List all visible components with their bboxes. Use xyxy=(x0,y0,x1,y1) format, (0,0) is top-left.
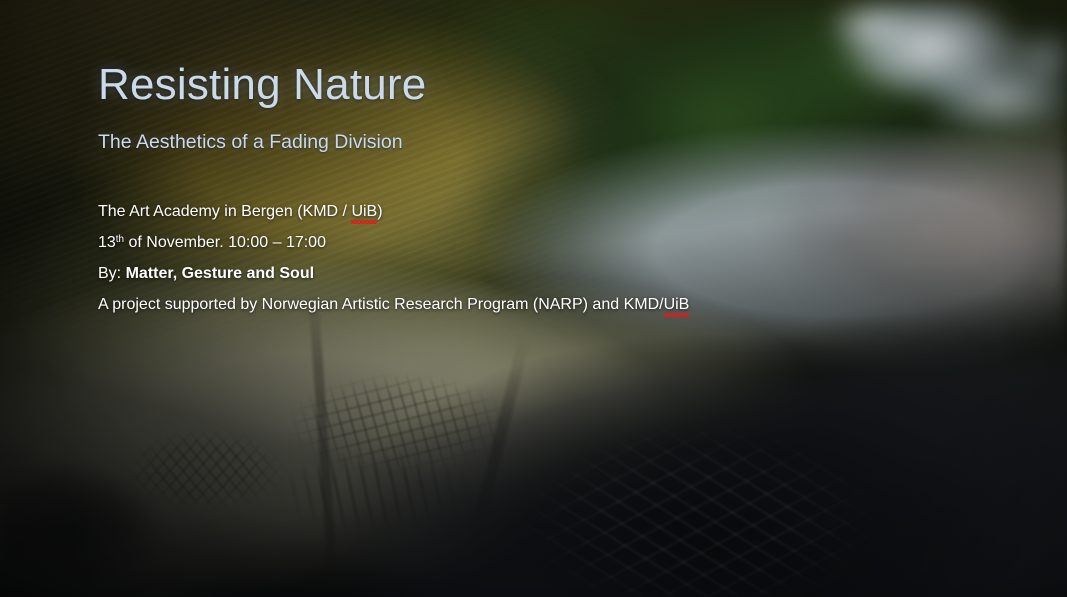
slide-text-block: Resisting Nature The Aesthetics of a Fad… xyxy=(98,62,798,313)
text-run: A project supported by Norwegian Artisti… xyxy=(98,296,664,313)
text-run: of November. 10:00 – 17:00 xyxy=(124,234,326,251)
emphasised-text: Matter, Gesture and Soul xyxy=(126,265,314,282)
spellcheck-flagged-word: UiB xyxy=(351,203,377,220)
text-run: The Art Academy in Bergen (KMD / xyxy=(98,203,351,220)
text-run: ) xyxy=(377,203,382,220)
text-run: 13 xyxy=(98,234,116,251)
slide-subtitle: The Aesthetics of a Fading Division xyxy=(98,131,798,154)
presentation-slide: Resisting Nature The Aesthetics of a Fad… xyxy=(0,0,1067,597)
slide-detail-list: The Art Academy in Bergen (KMD / UiB)13t… xyxy=(98,204,798,313)
text-run: By: xyxy=(98,265,126,282)
detail-line-presenters: By: Matter, Gesture and Soul xyxy=(98,266,798,282)
ordinal-suffix: th xyxy=(116,234,124,245)
detail-line-venue: The Art Academy in Bergen (KMD / UiB) xyxy=(98,204,798,220)
detail-line-funding: A project supported by Norwegian Artisti… xyxy=(98,297,798,313)
slide-title: Resisting Nature xyxy=(98,62,798,109)
detail-line-date-time: 13th of November. 10:00 – 17:00 xyxy=(98,235,798,251)
spellcheck-flagged-word: UiB xyxy=(664,296,690,313)
